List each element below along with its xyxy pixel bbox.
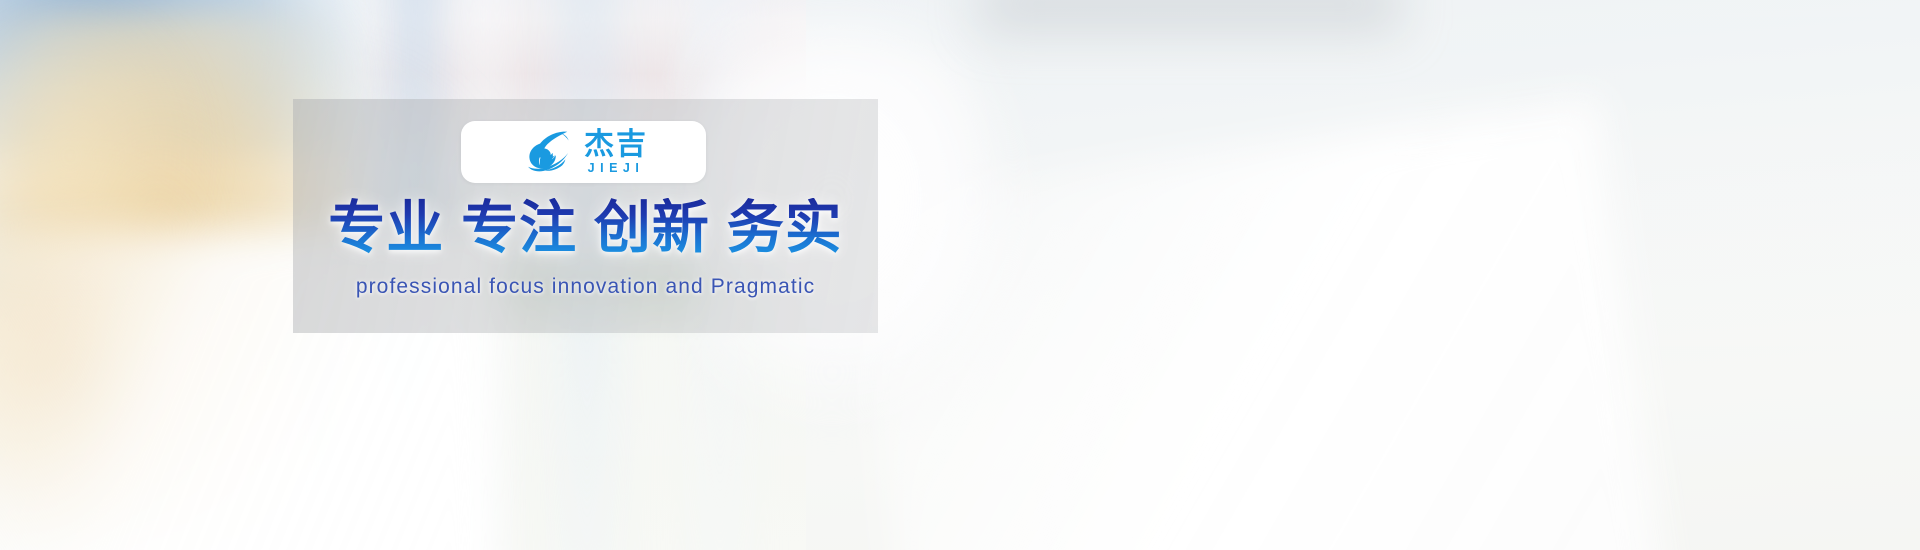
- slogan-english: professional focus innovation and Pragma…: [293, 275, 878, 299]
- brand-wordmark: 杰吉 JIEJI: [584, 130, 648, 175]
- banner-background-photo: [0, 0, 1920, 550]
- brand-logo-card[interactable]: 杰吉 JIEJI: [461, 121, 706, 183]
- brand-name-en: JIEJI: [584, 162, 648, 175]
- background-dark-strip: [980, 0, 1400, 30]
- slogan-chinese: 专业 专注 创新 务实: [293, 198, 878, 260]
- background-blonde-hair-top: [0, 0, 200, 260]
- brand-name-cn: 杰吉: [584, 130, 648, 160]
- jieji-wave-swirl-icon: [519, 129, 575, 175]
- hero-banner: 杰吉 JIEJI 专业 专注 创新 务实 professional focus …: [0, 0, 1920, 550]
